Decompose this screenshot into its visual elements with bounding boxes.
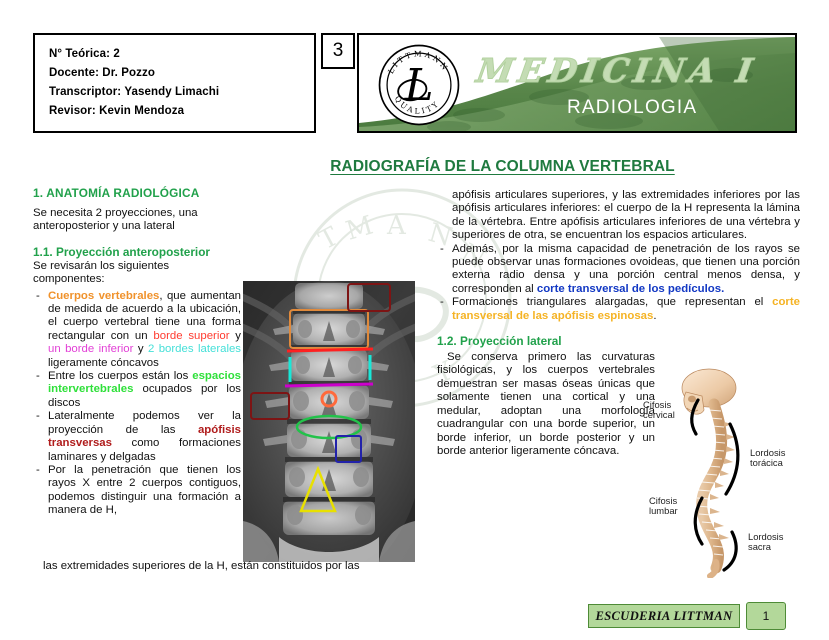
right-paragraph-item-1: Además, por la misma capacidad de penetr… <box>437 243 800 297</box>
text-run: y <box>133 343 148 355</box>
littmann-logo-icon: LITTMANN QUALITY L <box>377 43 461 127</box>
banner-title: MEDICINA I <box>474 51 760 90</box>
header-line-revisor: Revisor: Kevin Mendoza <box>49 102 314 121</box>
header-banner: MEDICINA I RADIOLOGIA LITTMANN QUALITY L <box>357 33 797 133</box>
xray-image-anteroposterior <box>243 281 415 562</box>
text-run: . <box>653 310 656 322</box>
document-header: N° Teórica: 2 Docente: Dr. Pozzo Transcr… <box>33 33 797 145</box>
subsection-heading-anteroposterior: 1.1. Proyección anteroposterior <box>33 245 241 259</box>
document-footer: ESCUDERIA LITTMAN 1 <box>588 602 798 630</box>
text-run: corte transversal de los pedículos. <box>537 283 724 295</box>
text-run: Cuerpos vertebrales <box>48 290 159 302</box>
annotation-red-line-borde-superior <box>287 349 373 351</box>
right-paragraph-item-0: apófisis articulares superiores, y las e… <box>437 189 800 243</box>
left-bullet-list: Cuerpos vertebrales, que aumentan de med… <box>33 290 241 518</box>
right-paragraph-list: apófisis articulares superiores, y las e… <box>437 189 800 323</box>
document-page: T M A N N U Y N° Teórica: 2 Docente: Dr.… <box>0 0 829 640</box>
text-run: apófisis articulares superiores, y las e… <box>452 189 800 241</box>
header-line-transcriptor: Transcriptor: Yasendy Limachi <box>49 83 314 102</box>
spine-lateral-figure: Cifosis cervical Lordosis torácica Cifos… <box>640 366 826 578</box>
svg-text:A: A <box>386 211 412 241</box>
header-info-box: N° Teórica: 2 Docente: Dr. Pozzo Transcr… <box>33 33 316 133</box>
arc-lordosis-toracica <box>726 424 738 494</box>
left-bullet-item-2: Lateralmente podemos ver la proyección d… <box>33 410 241 464</box>
footer-brand-bar: ESCUDERIA LITTMAN <box>588 604 740 628</box>
text-run: Entre los cuerpos están los <box>48 370 192 382</box>
footer-page-number: 1 <box>746 602 786 630</box>
text-run: 2 bordes laterales <box>148 343 241 355</box>
label-lordosis-toracica-line2: torácica <box>750 457 784 468</box>
label-lordosis-sacra-line2: sacra <box>748 541 772 552</box>
left-column: 1. ANATOMÍA RADIOLÓGICA Se necesita 2 pr… <box>33 186 241 518</box>
header-line-teorica: N° Teórica: 2 <box>49 45 314 64</box>
svg-text:M: M <box>343 209 383 247</box>
label-cifosis-lumbar-line2: lumbar <box>649 505 678 516</box>
svg-text:T: T <box>314 219 349 256</box>
section-heading-anatomia: 1. ANATOMÍA RADIOLÓGICA <box>33 186 241 200</box>
header-number-box: 3 <box>321 33 355 69</box>
text-run: y <box>229 330 241 342</box>
text-run: ligeramente cóncavos <box>48 357 159 369</box>
left-bullet-item-0: Cuerpos vertebrales, que aumentan de med… <box>33 290 241 370</box>
banner-subtitle: RADIOLOGIA <box>567 97 697 119</box>
annotation-magenta-line-borde-inferior <box>285 384 373 386</box>
header-line-docente: Docente: Dr. Pozzo <box>49 64 314 83</box>
section-intro: Se necesita 2 proyecciones, una anteropo… <box>33 207 241 234</box>
text-run: Formaciones triangulares alargadas, que … <box>452 296 772 308</box>
label-cifosis-cervical-line2: cervical <box>643 409 675 420</box>
left-bullet-item-3: Por la penetración que tienen los rayos … <box>33 464 241 518</box>
right-paragraph-item-2: Formaciones triangulares alargadas, que … <box>437 296 800 323</box>
subsection-heading-lateral: 1.2. Proyección lateral <box>437 334 800 348</box>
page-title-text: RADIOGRAFÍA DE LA COLUMNA VERTEBRAL <box>154 158 675 175</box>
text-run: borde superior <box>153 330 229 342</box>
left-bullet-item-1: Entre los cuerpos están los espacios int… <box>33 370 241 410</box>
lateral-projection-text: Se conserva primero las curvaturas fisio… <box>437 351 655 458</box>
page-title: RADIOGRAFÍA DE LA COLUMNA VERTEBRAL <box>0 158 829 176</box>
text-run: un borde inferior <box>48 343 133 355</box>
text-run: Por la penetración que tienen los rayos … <box>48 464 241 516</box>
subsection-intro: Se revisarán los siguientes componentes: <box>33 260 241 287</box>
svg-text:L: L <box>403 60 433 111</box>
full-width-continuation-line: las extremidades superiores de la H, est… <box>43 560 473 573</box>
footer-brand-text: ESCUDERIA LITTMAN <box>595 609 732 624</box>
